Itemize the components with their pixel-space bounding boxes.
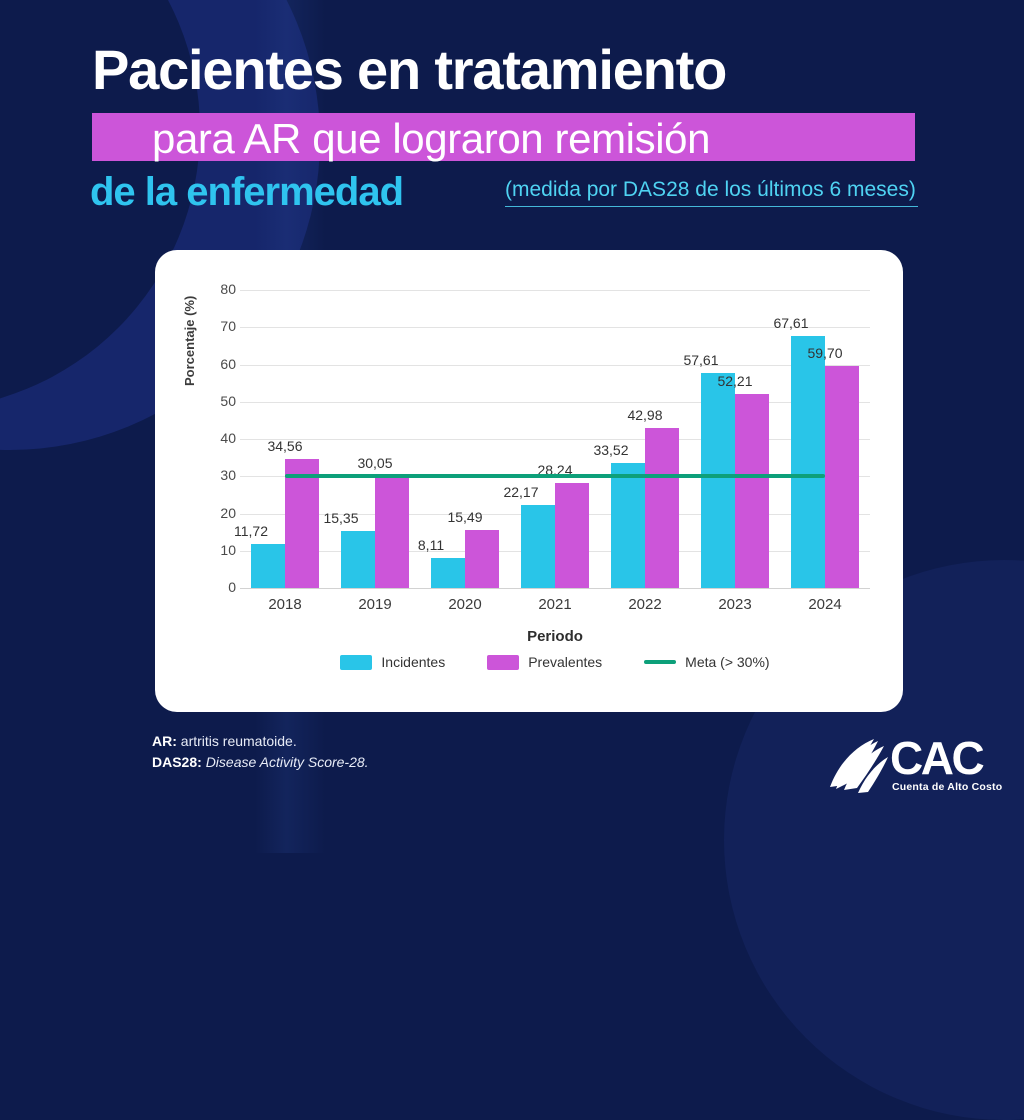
chart-card: Porcentaje (%) 01020304050607080 11,7234… [155, 250, 903, 712]
y-axis-tick-label: 50 [196, 393, 236, 409]
x-axis-tick-2018: 2018 [247, 596, 323, 613]
x-axis-tick-2019: 2019 [337, 596, 413, 613]
title-line-2: para AR que lograron remisión [152, 115, 710, 163]
bar-value-label: 52,21 [698, 373, 772, 389]
plot-area: Porcentaje (%) 01020304050607080 11,7234… [240, 290, 870, 588]
legend-item-meta[interactable]: Meta (> 30%) [644, 654, 769, 670]
title-line-1: Pacientes en tratamiento [92, 37, 726, 102]
bar-value-label: 67,61 [754, 315, 828, 331]
bar-incidentes-2021[interactable] [521, 505, 555, 588]
y-axis-tick-label: 30 [196, 467, 236, 483]
legend-label: Incidentes [381, 654, 445, 670]
bar-value-label: 59,70 [788, 345, 862, 361]
cac-logo-text: CAC [890, 735, 982, 781]
y-axis-tick-label: 60 [196, 356, 236, 372]
cac-swoosh-icon [828, 737, 888, 795]
x-axis-tick-2020: 2020 [427, 596, 503, 613]
bar-prevalentes-2022[interactable] [645, 428, 679, 588]
legend-swatch [487, 655, 519, 670]
legend-line-swatch [644, 660, 676, 664]
bar-groups: 11,7234,5615,3530,058,1115,4922,1728,243… [240, 290, 870, 588]
footnote-ar-term: AR: [152, 733, 177, 749]
bar-prevalentes-2020[interactable] [465, 530, 499, 588]
bar-value-label: 33,52 [574, 442, 648, 458]
bar-incidentes-2020[interactable] [431, 558, 465, 588]
bar-incidentes-2024[interactable] [791, 336, 825, 588]
legend-item-prevalentes[interactable]: Prevalentes [487, 654, 602, 670]
y-axis-tick-label: 20 [196, 505, 236, 521]
footnote-das28-term: DAS28: [152, 754, 202, 770]
bar-incidentes-2019[interactable] [341, 531, 375, 588]
bar-group: 22,1728,24 [517, 290, 593, 588]
gridline [240, 588, 870, 589]
x-axis-tick-2022: 2022 [607, 596, 683, 613]
bar-value-label: 15,49 [428, 509, 502, 525]
legend-label: Meta (> 30%) [685, 654, 769, 670]
bar-value-label: 11,72 [214, 523, 288, 539]
bar-group: 67,6159,70 [787, 290, 863, 588]
bar-value-label: 30,05 [338, 455, 412, 471]
footnotes: AR: artritis reumatoide. DAS28: Disease … [152, 731, 369, 773]
cac-logo: CAC Cuenta de Alto Costo [828, 737, 994, 799]
y-axis-tick-label: 40 [196, 430, 236, 446]
bar-prevalentes-2023[interactable] [735, 394, 769, 588]
bar-group: 33,5242,98 [607, 290, 683, 588]
bar-incidentes-2018[interactable] [251, 544, 285, 588]
bar-prevalentes-2019[interactable] [375, 476, 409, 588]
title-note: (medida por DAS28 de los últimos 6 meses… [505, 178, 916, 202]
y-axis-tick-label: 80 [196, 281, 236, 297]
bar-incidentes-2023[interactable] [701, 373, 735, 588]
x-axis-tick-2021: 2021 [517, 596, 593, 613]
x-axis-label: Periodo [240, 628, 870, 645]
cac-logo-tagline: Cuenta de Alto Costo [892, 781, 1002, 793]
legend-swatch [340, 655, 372, 670]
bar-group: 57,6152,21 [697, 290, 773, 588]
bar-incidentes-2022[interactable] [611, 463, 645, 588]
bar-group: 11,7234,56 [247, 290, 323, 588]
bar-value-label: 15,35 [304, 510, 378, 526]
bar-value-label: 42,98 [608, 407, 682, 423]
bar-prevalentes-2024[interactable] [825, 366, 859, 588]
y-axis-tick-label: 70 [196, 318, 236, 334]
footnote-ar: AR: artritis reumatoide. [152, 731, 369, 752]
legend-item-incidentes[interactable]: Incidentes [340, 654, 445, 670]
bar-value-label: 34,56 [248, 438, 322, 454]
bar-value-label: 8,11 [394, 537, 468, 553]
footnote-das28-text: Disease Activity Score-28. [206, 754, 369, 770]
bar-value-label: 22,17 [484, 484, 558, 500]
y-axis-tick-label: 0 [196, 579, 236, 595]
x-axis-tick-2023: 2023 [697, 596, 773, 613]
title-line-3: de la enfermedad [90, 170, 403, 215]
bar-value-label: 57,61 [664, 352, 738, 368]
footnote-das28: DAS28: Disease Activity Score-28. [152, 752, 369, 773]
y-axis-label: Porcentaje (%) [182, 296, 197, 386]
x-axis-tick-2024: 2024 [787, 596, 863, 613]
meta-reference-line [285, 474, 825, 478]
title-note-underline [505, 206, 918, 207]
legend-label: Prevalentes [528, 654, 602, 670]
bar-prevalentes-2021[interactable] [555, 483, 589, 588]
chart-legend: IncidentesPrevalentesMeta (> 30%) [240, 654, 870, 670]
footnote-ar-text: artritis reumatoide. [177, 733, 297, 749]
y-axis-tick-label: 10 [196, 542, 236, 558]
bar-group: 8,1115,49 [427, 290, 503, 588]
